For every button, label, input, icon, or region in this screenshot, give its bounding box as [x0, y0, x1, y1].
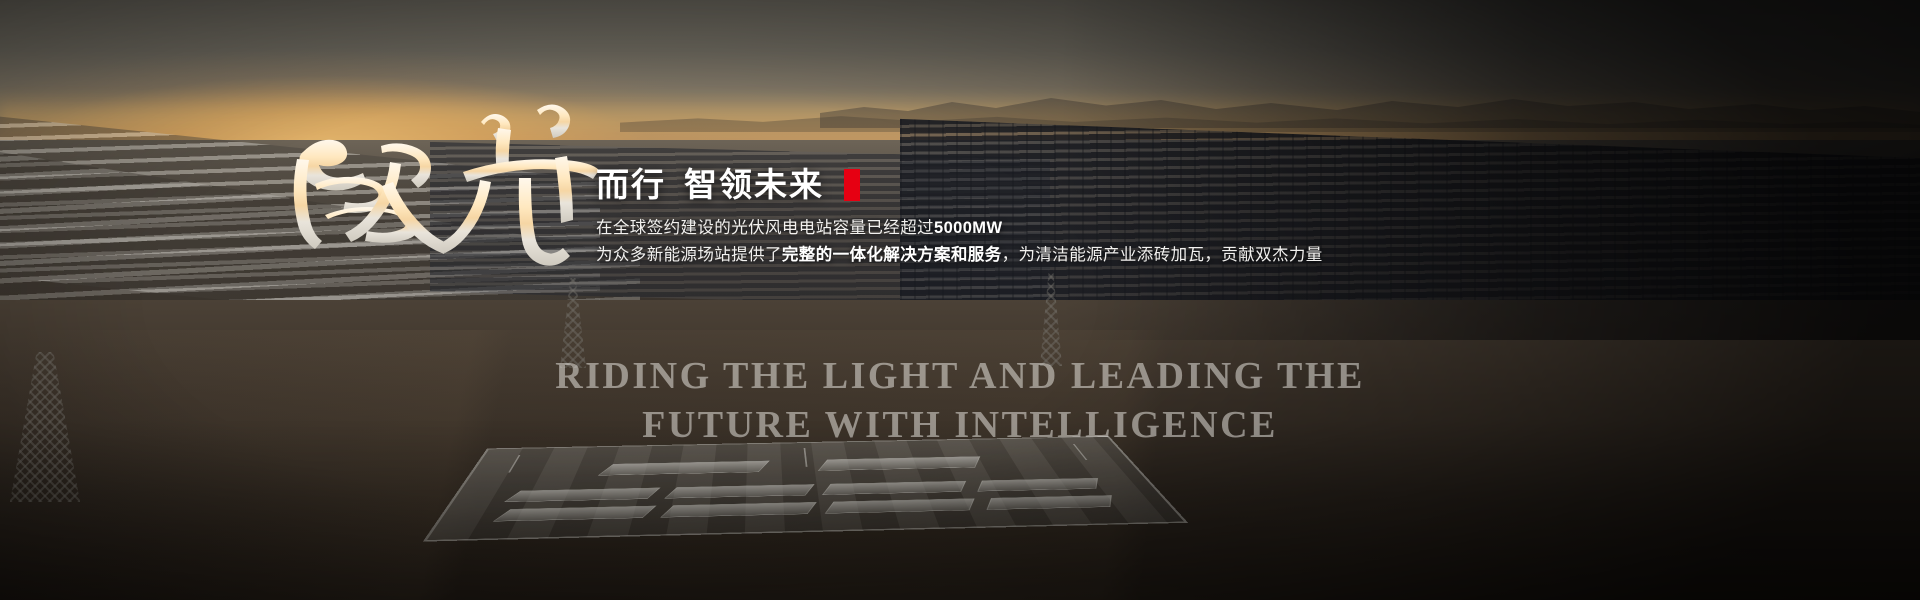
subtitle-1-highlight: 5000MW [934, 219, 1002, 237]
page-title: 而行 智领未来 [596, 168, 1356, 201]
subtitle-line-1: 在全球签约建设的光伏风电电站容量已经超过5000MW [596, 215, 1356, 242]
subtitle-line-2: 为众多新能源场站提供了完整的一体化解决方案和服务，为清洁能源产业添砖加瓦，贡献双… [596, 242, 1356, 269]
headline-block: 而行 智领未来 在全球签约建设的光伏风电电站容量已经超过5000MW 为众多新能… [596, 168, 1356, 268]
hero-banner: 而行 智领未来 在全球签约建设的光伏风电电站容量已经超过5000MW 为众多新能… [0, 0, 1920, 600]
subtitle-2-text-after: ，为清洁能源产业添砖加瓦，贡献双杰力量 [1002, 246, 1323, 264]
subtitle-2-highlight: 完整的一体化解决方案和服务 [782, 246, 1002, 264]
red-accent-bar [844, 169, 860, 201]
vignette-overlay [0, 0, 1920, 600]
headline-part-two: 智领未来 [684, 168, 824, 201]
headline-part-one: 而行 [596, 168, 666, 201]
background-photo [0, 0, 1920, 600]
subtitle-2-text-before: 为众多新能源场站提供了 [596, 246, 782, 264]
subtitle-list: 在全球签约建设的光伏风电电站容量已经超过5000MW 为众多新能源场站提供了完整… [596, 215, 1356, 268]
subtitle-1-text-before: 在全球签约建设的光伏风电电站容量已经超过 [596, 219, 934, 237]
